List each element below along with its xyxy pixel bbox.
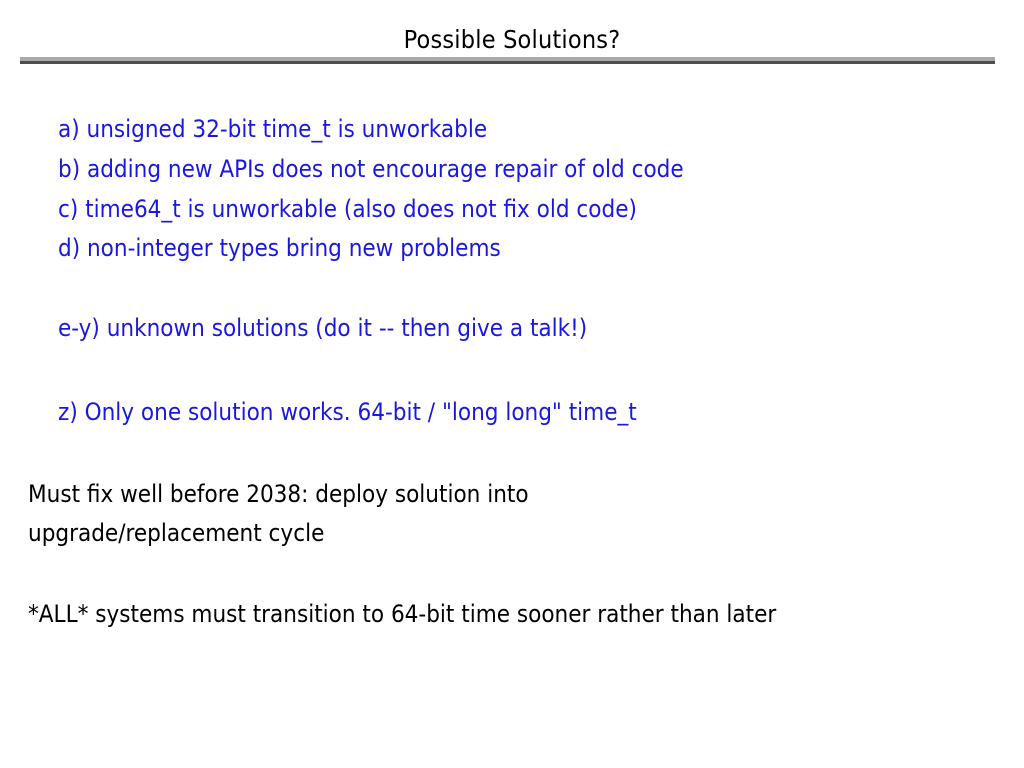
option-item-b: b) adding new APIs does not encourage re… (58, 157, 684, 181)
slide-body: a) unsigned 32-bit time_t is unworkable … (0, 0, 1024, 768)
option-item-a: a) unsigned 32-bit time_t is unworkable (58, 117, 487, 141)
slide: Possible Solutions? a) unsigned 32-bit t… (0, 0, 1024, 768)
conclusion-line-2: upgrade/replacement cycle (28, 521, 324, 545)
option-item-c: c) time64_t is unworkable (also does not… (58, 197, 637, 221)
conclusion-line-1: Must fix well before 2038: deploy soluti… (28, 482, 529, 506)
option-item-e-y: e-y) unknown solutions (do it -- then gi… (58, 316, 587, 340)
conclusion-emphasis-line: *ALL* systems must transition to 64-bit … (28, 602, 776, 626)
option-item-z: z) Only one solution works. 64-bit / "lo… (58, 400, 637, 424)
option-item-d: d) non-integer types bring new problems (58, 236, 501, 260)
